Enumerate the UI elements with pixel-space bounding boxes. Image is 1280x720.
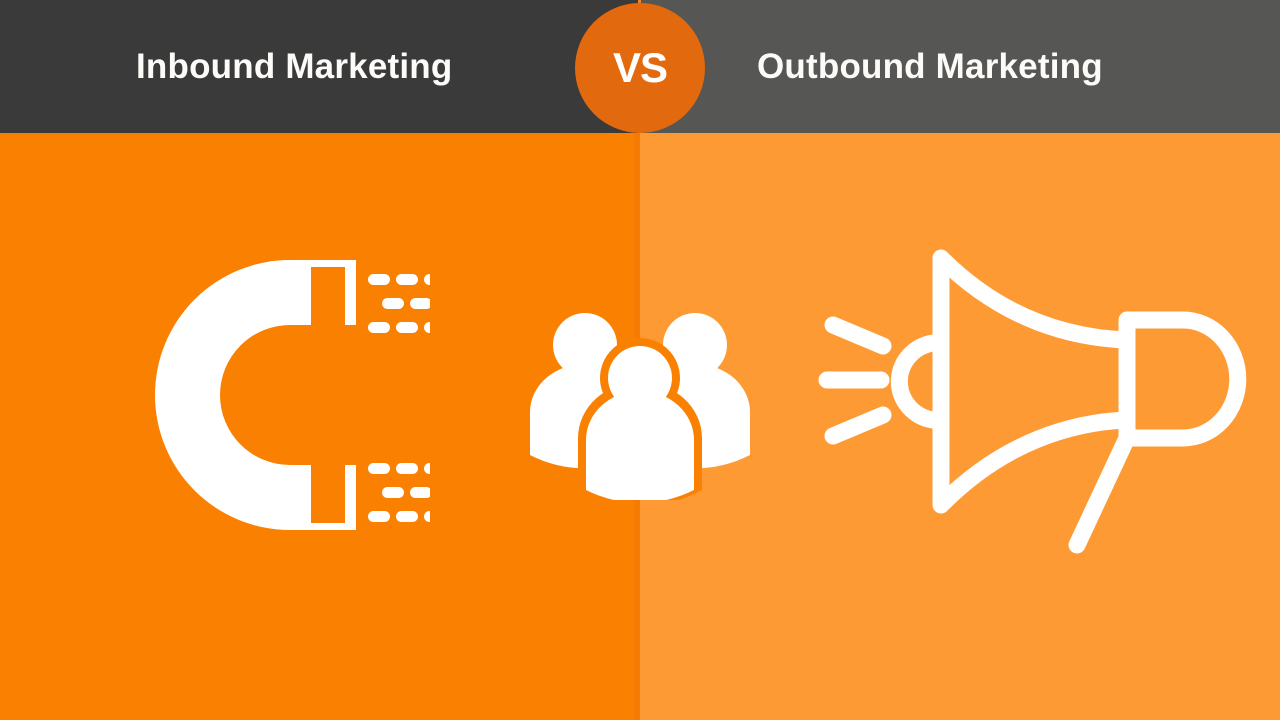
header-bar: Inbound Marketing Outbound Marketing VS — [0, 0, 1280, 133]
outbound-marketing-title: Outbound Marketing — [757, 0, 1103, 133]
inbound-marketing-title: Inbound Marketing — [136, 0, 452, 133]
slide-canvas: Inbound Marketing Outbound Marketing VS — [0, 0, 1280, 720]
vs-badge: VS — [575, 3, 705, 133]
people-group-icon — [520, 300, 760, 500]
megaphone-icon — [815, 240, 1255, 570]
magnet-icon — [110, 250, 430, 540]
